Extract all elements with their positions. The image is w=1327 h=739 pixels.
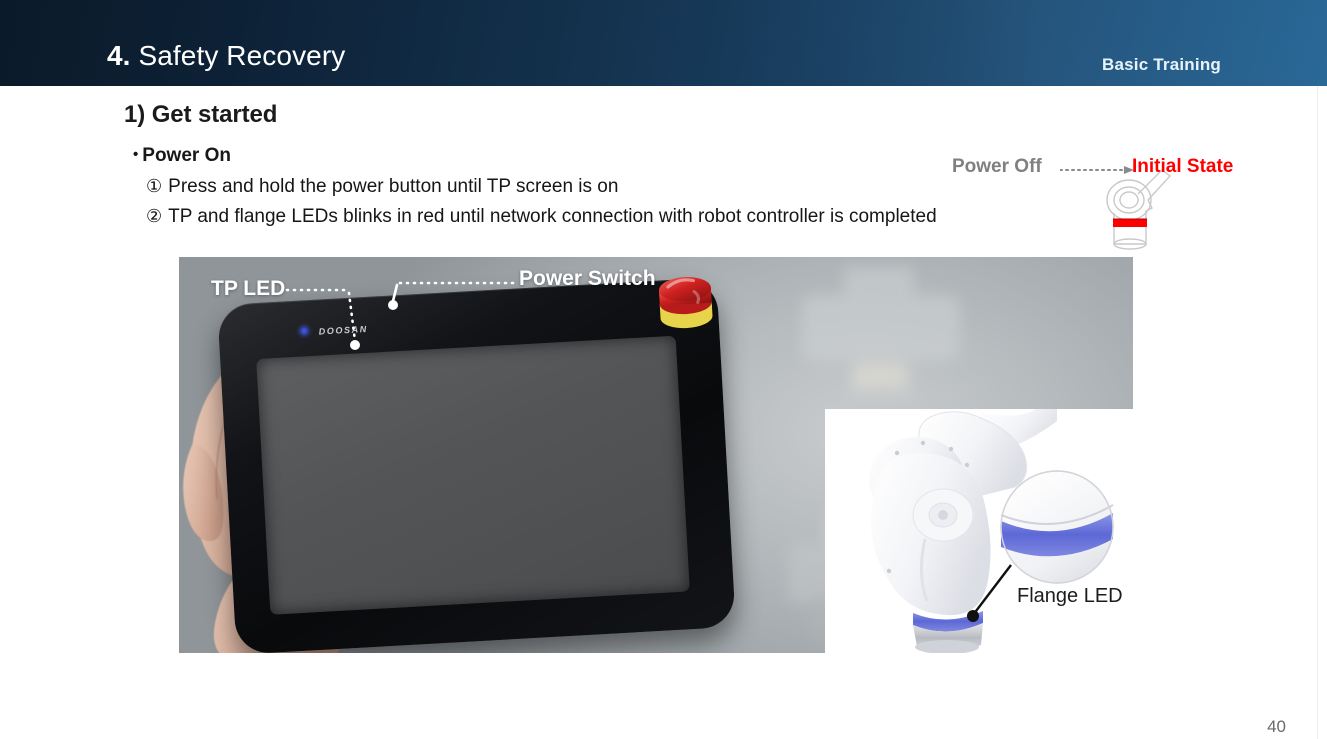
page-title: 4. Safety Recovery (107, 40, 345, 72)
robot-flange-illustration-icon (825, 409, 1133, 653)
circled-number-1-icon: ① (146, 176, 162, 197)
page-title-text: Safety Recovery (138, 40, 345, 71)
power-off-label: Power Off (952, 156, 1042, 178)
initial-state-label: Initial State (1132, 156, 1233, 178)
page-title-number: 4. (107, 40, 131, 71)
step-item-1: ①Press and hold the power button until T… (146, 176, 618, 198)
section-heading: 1) Get started (124, 101, 277, 129)
dotted-arrow-icon (1060, 164, 1134, 176)
circled-number-2-icon: ② (146, 206, 162, 227)
flange-led-label: Flange LED (1017, 585, 1123, 608)
bullet-power-on-label: Power On (142, 145, 231, 166)
step-item-2: ②TP and flange LEDs blinks in red until … (146, 206, 937, 228)
emergency-stop-button-icon[interactable] (653, 271, 718, 332)
right-edge-divider (1317, 86, 1318, 739)
bullet-marker-icon: • (133, 146, 138, 163)
step-1-text: Press and hold the power button until TP… (168, 176, 618, 197)
step-2-text: TP and flange LEDs blinks in red until n… (168, 206, 937, 227)
power-switch-callout-label: Power Switch (519, 267, 656, 291)
bullet-power-on: •Power On (133, 145, 231, 167)
slide-header-banner: 4. Safety Recovery Basic Training (0, 0, 1327, 86)
page-number: 40 (1267, 717, 1286, 737)
header-bottom-rule (0, 83, 1327, 86)
flange-led-inset-panel: Flange LED (825, 409, 1133, 653)
state-transition-diagram: Power Off Initial State (944, 150, 1274, 250)
teach-pendant-device[interactable]: DOOSAN (217, 277, 737, 653)
header-course-label: Basic Training (1102, 55, 1221, 75)
tp-led-callout-label: TP LED (211, 277, 285, 301)
pendant-screen[interactable] (256, 336, 690, 615)
teach-pendant-photo: DOOSAN TP LED Pow (179, 257, 1133, 653)
